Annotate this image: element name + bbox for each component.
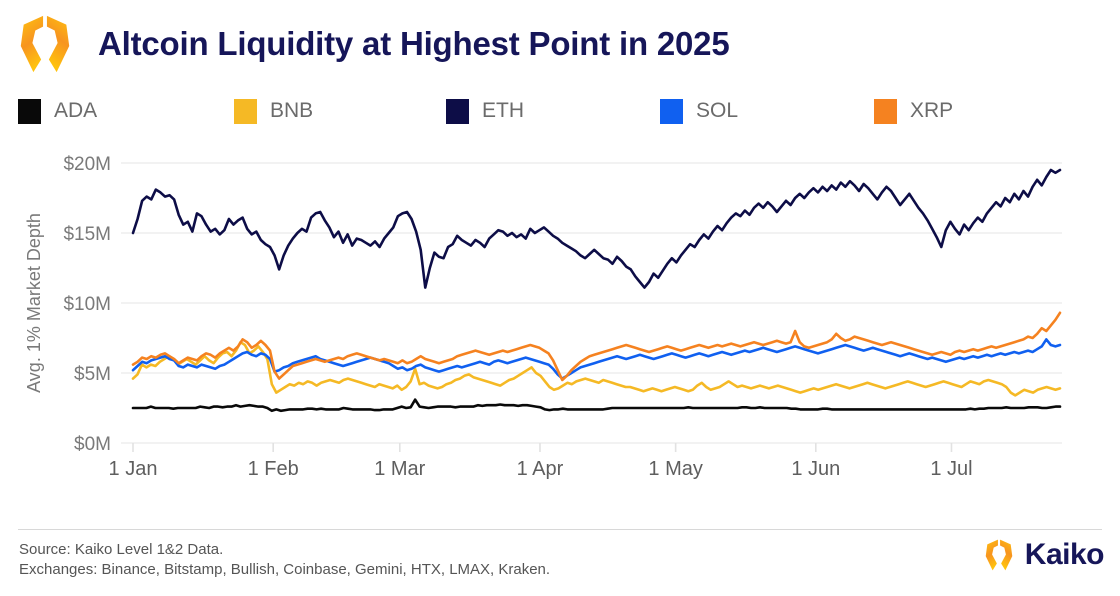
legend-swatch-ada	[18, 99, 41, 124]
chart-plot-area: $0M$5M$10M$15M$20MAvg. 1% Market Depth1 …	[0, 140, 1120, 495]
footer-exchanges-line: Exchanges: Binance, Bitstamp, Bullish, C…	[19, 560, 550, 580]
header: Altcoin Liquidity at Highest Point in 20…	[0, 0, 1120, 88]
y-tick-label: $15M	[63, 224, 111, 245]
kaiko-hexagon-logo-icon	[14, 13, 76, 75]
chart-page: Altcoin Liquidity at Highest Point in 20…	[0, 0, 1120, 596]
series-line-eth	[133, 170, 1060, 288]
x-tick-label: 1 Apr	[517, 458, 564, 480]
y-tick-label: $5M	[74, 364, 111, 385]
y-tick-label: $10M	[63, 294, 111, 315]
page-title: Altcoin Liquidity at Highest Point in 20…	[98, 25, 730, 63]
footer-source-line: Source: Kaiko Level 1&2 Data.	[19, 540, 550, 560]
legend-item-xrp[interactable]: XRP	[874, 96, 953, 126]
legend-swatch-eth	[446, 99, 469, 124]
chart-legend: ADA BNB ETH SOL XRP	[18, 96, 1018, 128]
legend-label-eth: ETH	[482, 99, 524, 123]
x-tick-label: 1 May	[648, 458, 702, 480]
legend-item-sol[interactable]: SOL	[660, 96, 738, 126]
legend-item-eth[interactable]: ETH	[446, 96, 524, 126]
legend-swatch-bnb	[234, 99, 257, 124]
x-tick-label: 1 Feb	[248, 458, 299, 480]
legend-swatch-xrp	[874, 99, 897, 124]
y-tick-label: $0M	[74, 434, 111, 455]
legend-label-ada: ADA	[54, 99, 97, 123]
y-axis-title: Avg. 1% Market Depth	[24, 213, 44, 393]
line-chart-svg: $0M$5M$10M$15M$20MAvg. 1% Market Depth1 …	[0, 140, 1120, 495]
legend-label-bnb: BNB	[270, 99, 313, 123]
footer-brand: Kaiko	[982, 538, 1104, 572]
legend-item-ada[interactable]: ADA	[18, 96, 97, 126]
kaiko-hexagon-logo-icon	[982, 538, 1016, 572]
footer-notes: Source: Kaiko Level 1&2 Data. Exchanges:…	[19, 540, 550, 580]
legend-label-sol: SOL	[696, 99, 738, 123]
legend-label-xrp: XRP	[910, 99, 953, 123]
series-line-ada	[133, 400, 1060, 411]
series-line-xrp	[133, 313, 1060, 380]
x-tick-label: 1 Mar	[374, 458, 425, 480]
footer-divider	[18, 529, 1102, 530]
y-tick-label: $20M	[63, 154, 111, 175]
footer-brand-name: Kaiko	[1025, 538, 1104, 572]
x-tick-label: 1 Jun	[791, 458, 840, 480]
legend-swatch-sol	[660, 99, 683, 124]
x-tick-label: 1 Jul	[930, 458, 972, 480]
x-tick-label: 1 Jan	[109, 458, 158, 480]
legend-item-bnb[interactable]: BNB	[234, 96, 313, 126]
